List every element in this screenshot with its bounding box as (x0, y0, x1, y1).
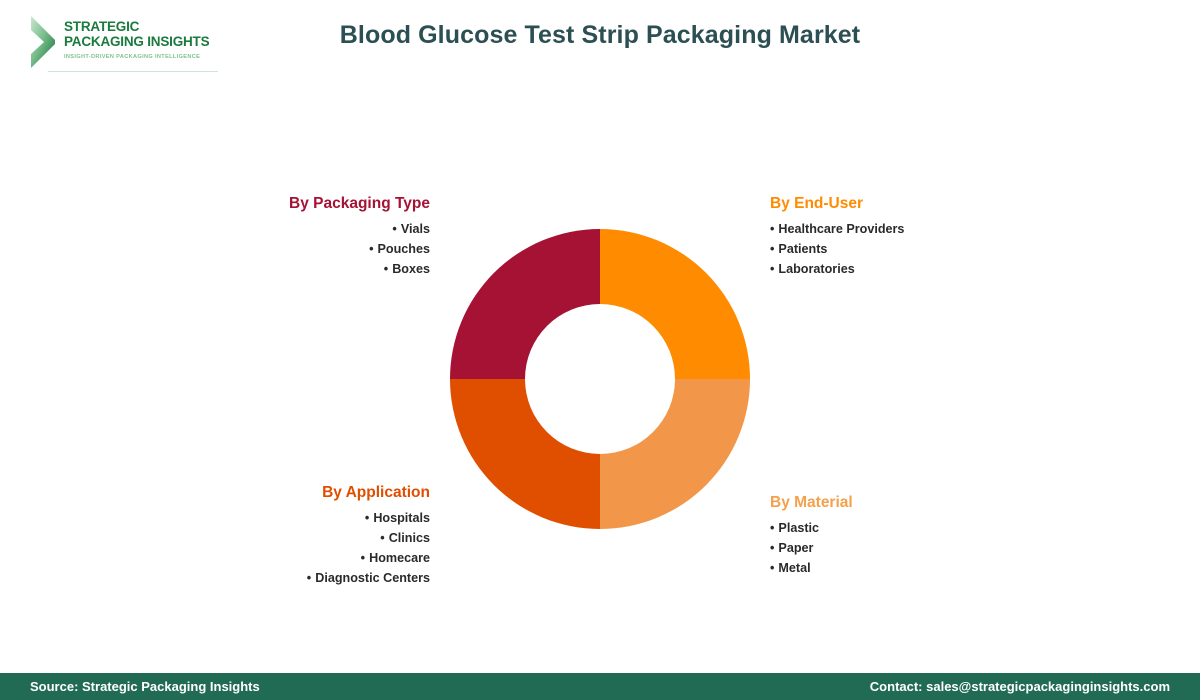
logo-divider (48, 71, 218, 72)
segment-title-end-user: By End-User (770, 194, 1070, 214)
list-item: •Patients (770, 239, 1070, 259)
bullet-icon: • (392, 222, 396, 236)
list-item-label: Clinics (389, 531, 430, 545)
segment-block-packaging-type: By Packaging Type •Vials •Pouches •Boxes (190, 194, 430, 279)
segment-block-material: By Material •Plastic •Paper •Metal (770, 493, 1070, 578)
bullet-icon: • (361, 551, 365, 565)
footer-source: Source: Strategic Packaging Insights (30, 679, 260, 694)
list-item-label: Healthcare Providers (778, 222, 904, 236)
list-item: •Hospitals (190, 508, 430, 528)
donut-chart (450, 229, 750, 529)
bullet-icon: • (770, 242, 774, 256)
list-item: •Boxes (190, 259, 430, 279)
segment-list-application: •Hospitals •Clinics •Homecare •Diagnosti… (190, 508, 430, 588)
list-item: •Homecare (190, 548, 430, 568)
bullet-icon: • (365, 511, 369, 525)
list-item-label: Hospitals (373, 511, 430, 525)
segment-list-end-user: •Healthcare Providers •Patients •Laborat… (770, 219, 1070, 279)
segment-block-application: By Application •Hospitals •Clinics •Home… (190, 483, 430, 588)
bullet-icon: • (770, 262, 774, 276)
list-item: •Diagnostic Centers (190, 568, 430, 588)
list-item: •Healthcare Providers (770, 219, 1070, 239)
bullet-icon: • (369, 242, 373, 256)
bullet-icon: • (770, 561, 774, 575)
segment-list-material: •Plastic •Paper •Metal (770, 518, 1070, 578)
list-item: •Paper (770, 538, 1070, 558)
list-item-label: Diagnostic Centers (315, 571, 430, 585)
list-item: •Vials (190, 219, 430, 239)
list-item-label: Pouches (378, 242, 431, 256)
list-item-label: Patients (778, 242, 827, 256)
bullet-icon: • (770, 222, 774, 236)
list-item-label: Homecare (369, 551, 430, 565)
logo-tagline: INSIGHT-DRIVEN PACKAGING INTELLIGENCE (64, 54, 200, 60)
list-item-label: Laboratories (778, 262, 854, 276)
bullet-icon: • (307, 571, 311, 585)
segment-title-application: By Application (190, 483, 430, 503)
segment-list-packaging-type: •Vials •Pouches •Boxes (190, 219, 430, 279)
list-item: •Metal (770, 558, 1070, 578)
list-item-label: Paper (778, 541, 813, 555)
list-item: •Plastic (770, 518, 1070, 538)
bullet-icon: • (770, 521, 774, 535)
footer-contact: Contact: sales@strategicpackaginginsight… (870, 679, 1170, 694)
segment-title-packaging-type: By Packaging Type (190, 194, 430, 214)
footer-bar: Source: Strategic Packaging Insights Con… (0, 673, 1200, 700)
segment-block-end-user: By End-User •Healthcare Providers •Patie… (770, 194, 1070, 279)
list-item: •Clinics (190, 528, 430, 548)
page-title: Blood Glucose Test Strip Packaging Marke… (0, 21, 1200, 50)
segment-title-material: By Material (770, 493, 1070, 513)
list-item-label: Plastic (778, 521, 819, 535)
bullet-icon: • (384, 262, 388, 276)
infographic-page: STRATEGIC PACKAGING INSIGHTS INSIGHT-DRI… (0, 0, 1200, 700)
list-item-label: Metal (778, 561, 810, 575)
list-item-label: Boxes (392, 262, 430, 276)
list-item: •Pouches (190, 239, 430, 259)
bullet-icon: • (770, 541, 774, 555)
list-item-label: Vials (401, 222, 430, 236)
bullet-icon: • (380, 531, 384, 545)
donut-center-hole (525, 304, 675, 454)
list-item: •Laboratories (770, 259, 1070, 279)
